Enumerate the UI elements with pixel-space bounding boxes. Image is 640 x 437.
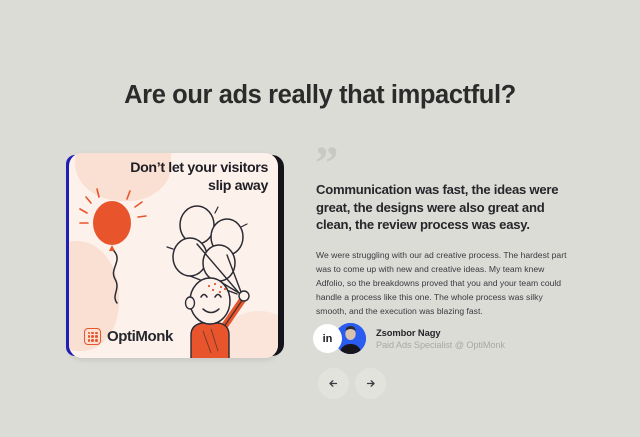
testimonial-author: in Zsombor Nagy Paid Ads Specialist @ Op…: [313, 323, 505, 354]
author-name: Zsombor Nagy: [376, 327, 505, 338]
linkedin-badge-icon[interactable]: in: [313, 324, 342, 353]
author-details: Zsombor Nagy Paid Ads Specialist @ OptiM…: [376, 327, 505, 350]
quotation-mark-icon: ”: [315, 140, 339, 187]
author-role: Paid Ads Specialist @ OptiMonk: [376, 340, 505, 350]
optimonk-logo: OptiMonk: [84, 328, 173, 345]
arrow-left-icon: [327, 377, 340, 390]
testimonial-body: We were struggling with our ad creative …: [316, 249, 569, 319]
page-title: Are our ads really that impactful?: [120, 79, 520, 112]
carousel-prev-button[interactable]: [318, 368, 349, 399]
arrow-right-icon: [364, 377, 377, 390]
testimonial-section: Are our ads really that impactful? Don’t…: [0, 0, 640, 437]
balloon-icon: [80, 189, 146, 303]
carousel-next-button[interactable]: [355, 368, 386, 399]
brand-name: OptiMonk: [107, 328, 173, 345]
person-holding-balloons-illustration: [186, 278, 250, 358]
card-surface: Don’t let your visitors slip away: [69, 153, 278, 358]
carousel-controls: [318, 368, 386, 399]
optimonk-grid-logo-icon: [84, 328, 101, 345]
ad-creative-card[interactable]: Don’t let your visitors slip away: [66, 153, 284, 358]
testimonial-lead: Communication was fast, the ideas were g…: [316, 181, 569, 234]
